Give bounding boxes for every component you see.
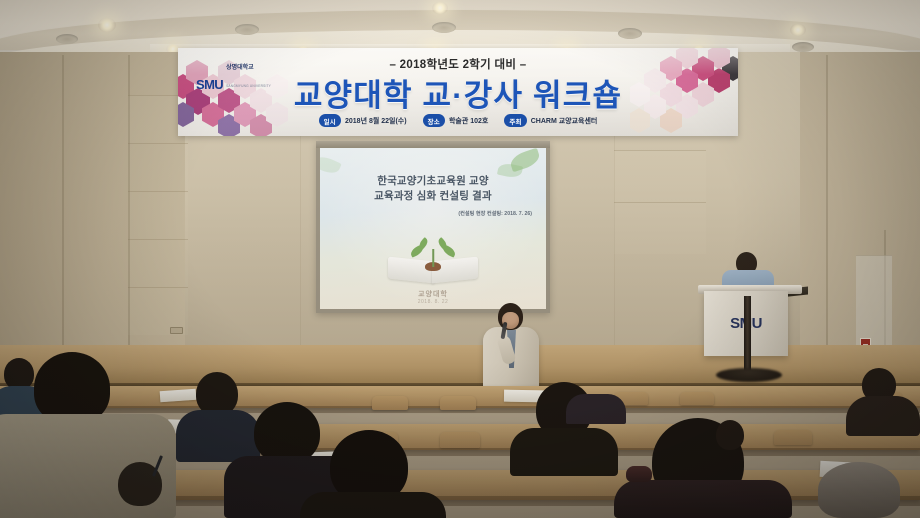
podium-base-shadow xyxy=(716,368,782,382)
audience-body xyxy=(176,410,260,462)
slide-title-line2: 교육과정 심화 컨설팅 결과 xyxy=(328,189,538,204)
open-book-graphic xyxy=(388,259,478,283)
audience-body xyxy=(510,428,618,476)
chair-back xyxy=(372,396,408,410)
chair-back xyxy=(440,432,480,448)
slide-footer-org: 교양대학 xyxy=(320,289,546,299)
wall-seam xyxy=(300,136,301,351)
banner-meta-item: 장소 학술관 102호 xyxy=(423,114,489,127)
ceiling-light-recessed xyxy=(235,24,259,35)
audience-head xyxy=(254,402,320,464)
sprout-stem-icon xyxy=(432,249,434,267)
wall-switch-plate[interactable] xyxy=(170,327,183,334)
projection-screen: 한국교양기초교육원 교양 교육과정 심화 컨설팅 결과 (컨설팅 현장 컨설팅:… xyxy=(316,141,550,313)
audience-body xyxy=(614,480,792,518)
lecture-hall-photo: SMU 상명대학교 SANGMYUNG UNIVERSITY – 2018학년도… xyxy=(0,0,920,518)
wall-seam xyxy=(826,55,828,355)
meta-badge-venue: 장소 xyxy=(423,114,445,127)
ceiling-light xyxy=(790,24,806,36)
ceiling-light xyxy=(98,18,116,32)
smu-logo-english: SANGMYUNG UNIVERSITY xyxy=(226,84,271,88)
meta-badge-date: 일시 xyxy=(319,114,341,127)
meta-text-date: 2018년 8월 22일(수) xyxy=(345,116,407,126)
banner-meta-item: 주최 CHARM 교양교육센터 xyxy=(504,114,597,127)
ceiling-light-recessed xyxy=(792,42,814,52)
wall-panel xyxy=(128,191,188,239)
smu-logo-korean: 상명대학교 xyxy=(226,65,254,71)
chair-back xyxy=(774,430,812,445)
smu-university-logo: SMU 상명대학교 SANGMYUNG UNIVERSITY xyxy=(196,56,271,92)
handheld-device xyxy=(626,466,652,482)
slide-title-line1: 한국교양기초교육원 교양 xyxy=(328,174,538,189)
audience-body xyxy=(300,492,446,518)
slide-subtitle: (컨설팅 현장 컨설팅: 2018. 7. 26) xyxy=(328,210,532,217)
wall-seam xyxy=(62,55,64,355)
audience-body xyxy=(846,396,920,436)
chair-back xyxy=(440,396,476,410)
wall-panel-back xyxy=(614,150,706,202)
meta-text-host: CHARM 교양교육센터 xyxy=(531,116,598,126)
meta-badge-host: 주최 xyxy=(504,114,526,127)
slide-title: 한국교양기초교육원 교양 교육과정 심화 컨설팅 결과 xyxy=(328,174,538,204)
chair-back xyxy=(680,392,714,405)
ceiling-light-recessed xyxy=(56,34,78,44)
wall-panel xyxy=(128,239,188,287)
wall-panel-back xyxy=(614,202,706,254)
ceiling-light-recessed xyxy=(432,22,456,33)
banner-meta-item: 일시 2018년 8월 22일(수) xyxy=(319,114,407,127)
podium-stem xyxy=(744,296,751,372)
meta-text-venue: 학술관 102호 xyxy=(449,116,488,126)
banner-meta-row: 일시 2018년 8월 22일(수) 장소 학술관 102호 주최 CHARM … xyxy=(178,114,738,127)
ceiling-light xyxy=(432,2,448,14)
ceiling-light-recessed xyxy=(618,28,642,39)
audience-body xyxy=(566,394,626,424)
wall-panel xyxy=(128,143,188,191)
projected-slide: 한국교양기초교육원 교양 교육과정 심화 컨설팅 결과 (컨설팅 현장 컨설팅:… xyxy=(320,148,546,309)
screen-top-bar xyxy=(316,141,550,148)
audience-head xyxy=(716,420,744,450)
event-banner: SMU 상명대학교 SANGMYUNG UNIVERSITY – 2018학년도… xyxy=(178,48,738,136)
audience-head xyxy=(818,462,900,518)
smu-logo-mark: SMU xyxy=(196,77,223,92)
